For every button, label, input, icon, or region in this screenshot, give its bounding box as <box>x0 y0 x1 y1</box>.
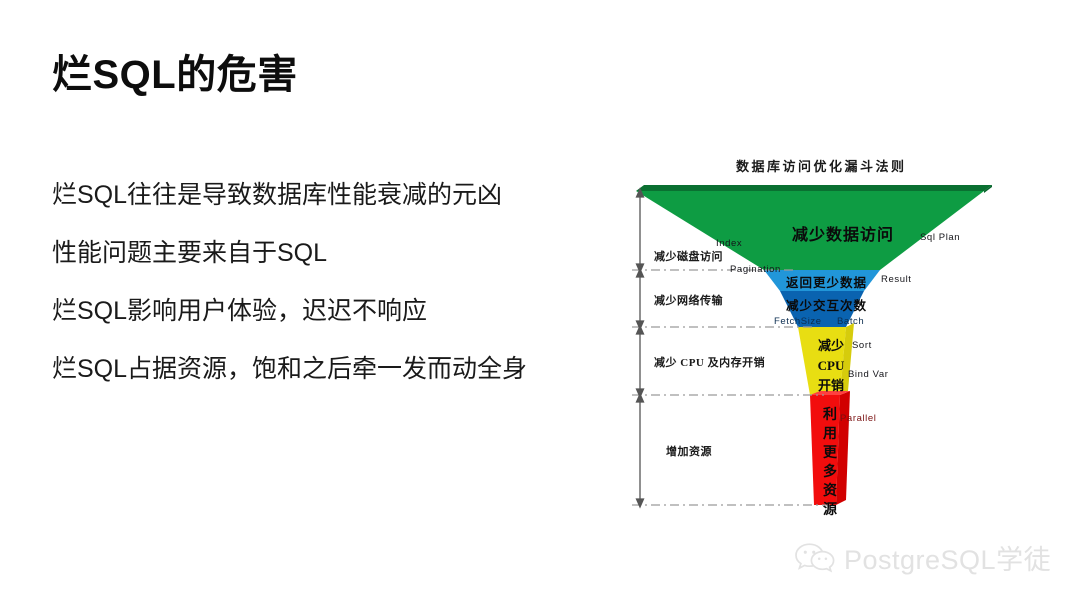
funnel-rim-green <box>636 185 992 191</box>
wechat-icon <box>795 542 835 573</box>
funnel-tag-parallel: Parallel <box>840 413 876 424</box>
funnel-graphic <box>618 148 998 523</box>
funnel-label-red-char: 利 <box>821 406 839 425</box>
funnel-tag-bind-var: Bind Var <box>848 369 889 380</box>
funnel-label-red-char: 源 <box>821 501 839 520</box>
bullet-line: 烂SQL往往是导致数据库性能衰减的元凶 <box>52 183 612 208</box>
page-title: 烂SQL的危害 <box>52 42 298 100</box>
slide-canvas: 烂SQL的危害 烂SQL往往是导致数据库性能衰减的元凶 性能问题主要来自于SQL… <box>0 0 1080 607</box>
bullet-list: 烂SQL往往是导致数据库性能衰减的元凶 性能问题主要来自于SQL 烂SQL影响用… <box>52 183 612 415</box>
bullet-line: 烂SQL影响用户体验，迟迟不响应 <box>52 299 612 324</box>
funnel-tag-fetchsize: FetchSize <box>774 316 822 327</box>
axis-arrow-group <box>637 189 644 507</box>
axis-label-add-resources: 增加资源 <box>666 443 712 459</box>
funnel-label-red: 利 用 更 多 资 源 <box>821 406 839 520</box>
funnel-label-dark-blue: 减少交互次数 <box>786 295 867 314</box>
funnel-label-yellow-line1: 减少 <box>812 336 850 356</box>
funnel-label-red-char: 多 <box>821 463 839 482</box>
funnel-tag-sort: Sort <box>852 340 872 351</box>
funnel-tag-pagination: Pagination <box>730 264 781 275</box>
axis-label-network-transfer: 减少网络传输 <box>654 292 723 308</box>
funnel-label-yellow-line2: CPU <box>812 356 850 376</box>
funnel-label-red-char: 更 <box>821 444 839 463</box>
watermark-text: PostgreSQL学徒 <box>844 538 1051 577</box>
bullet-line: 烂SQL占据资源，饱和之后牵一发而动全身 <box>52 357 612 382</box>
funnel-label-yellow: 减少 CPU 开销 <box>812 336 850 396</box>
bullet-line: 性能问题主要来自于SQL <box>52 241 612 266</box>
funnel-tag-result: Result <box>881 274 912 285</box>
funnel-diagram: 数据库访问优化漏斗法则 <box>618 148 998 523</box>
funnel-tag-sql-plan: Sql Plan <box>920 232 960 243</box>
funnel-label-red-char: 用 <box>821 425 839 444</box>
funnel-label-yellow-line3: 开销 <box>812 376 850 396</box>
watermark: PostgreSQL学徒 <box>795 538 1051 577</box>
funnel-label-light-blue: 返回更少数据 <box>786 272 867 291</box>
axis-label-disk-access: 减少磁盘访问 <box>654 248 723 264</box>
funnel-tag-batch: Batch <box>837 316 864 327</box>
funnel-label-red-char: 资 <box>821 482 839 501</box>
axis-label-cpu-memory: 减少 CPU 及内存开销 <box>654 354 765 370</box>
funnel-label-green: 减少数据访问 <box>792 221 894 245</box>
